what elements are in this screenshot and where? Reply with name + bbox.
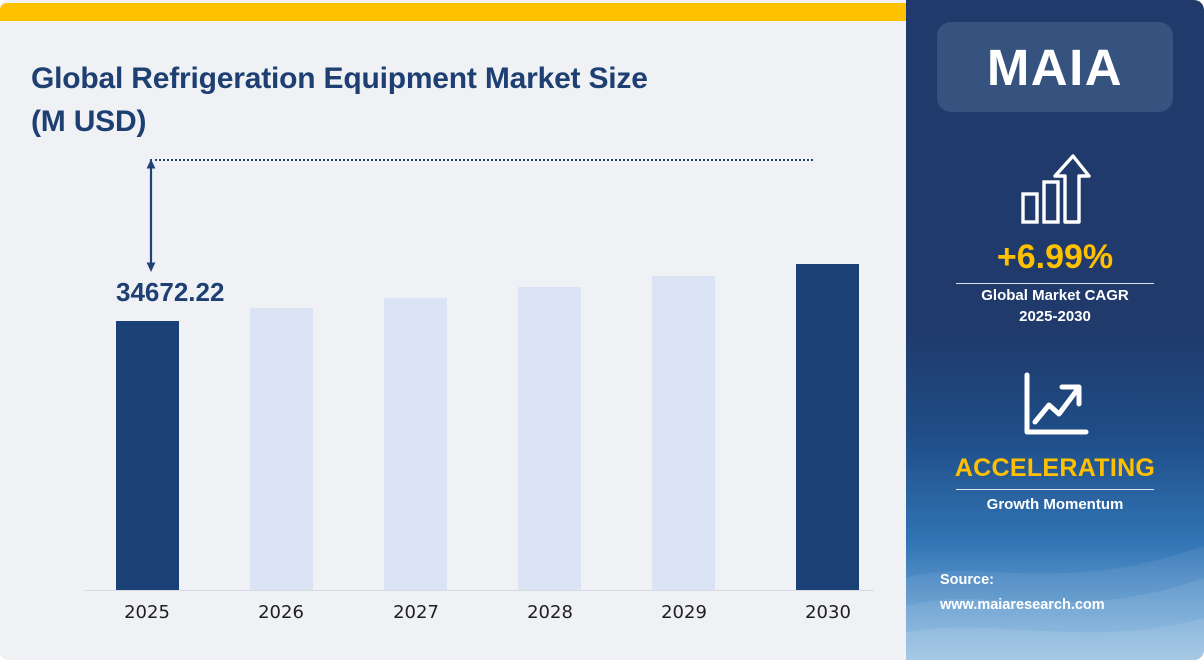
bar-2028 bbox=[518, 287, 581, 591]
x-tick-2026: 2026 bbox=[221, 602, 341, 623]
page-title: Global Refrigeration Equipment Market Si… bbox=[31, 58, 851, 143]
cagr-value: +6.99% bbox=[906, 238, 1204, 277]
chart-title-line-2: (M USD) bbox=[31, 105, 146, 138]
cagr-caption-line-1: Global Market CAGR bbox=[906, 287, 1204, 304]
source-label: Source: bbox=[940, 568, 1190, 593]
momentum-caption: Growth Momentum bbox=[906, 496, 1204, 513]
maia-logo-box: MAIA bbox=[937, 22, 1173, 112]
x-axis-line bbox=[84, 590, 874, 591]
momentum-value: ACCELERATING bbox=[906, 454, 1204, 483]
x-tick-2029: 2029 bbox=[624, 602, 744, 623]
bar-value-label-2025: 34672.22 bbox=[116, 277, 224, 308]
x-tick-2028: 2028 bbox=[490, 602, 610, 623]
infographic-root: Global Refrigeration Equipment Market Si… bbox=[0, 0, 1204, 660]
momentum-divider bbox=[956, 489, 1154, 490]
source-url[interactable]: www.maiaresearch.com bbox=[940, 593, 1190, 618]
cagr-divider bbox=[956, 283, 1154, 284]
bar-chart-up-arrow-icon bbox=[1019, 152, 1091, 226]
cagr-icon-container bbox=[906, 152, 1204, 226]
bar-2027 bbox=[384, 298, 447, 591]
source-block: Source: www.maiaresearch.com bbox=[940, 568, 1190, 619]
plot-area bbox=[84, 155, 874, 591]
x-tick-2025: 2025 bbox=[87, 602, 207, 623]
bar-2030 bbox=[796, 264, 859, 591]
bar-2026 bbox=[250, 308, 313, 591]
sidebar-panel: MAIA +6.99% Global Market CAGR 2025-2030… bbox=[906, 0, 1204, 660]
top-accent-bar bbox=[0, 3, 906, 21]
bar-2025 bbox=[116, 321, 179, 591]
x-tick-2030: 2030 bbox=[768, 602, 888, 623]
chart-panel: Global Refrigeration Equipment Market Si… bbox=[0, 0, 906, 660]
brand-logo-text: MAIA bbox=[987, 38, 1123, 97]
trend-line-chart-icon bbox=[1021, 372, 1089, 438]
x-tick-2027: 2027 bbox=[356, 602, 476, 623]
decorative-wave-graphic bbox=[906, 460, 1204, 660]
bar-2029 bbox=[652, 276, 715, 591]
momentum-icon-container bbox=[906, 372, 1204, 438]
cagr-caption-line-2: 2025-2030 bbox=[906, 308, 1204, 325]
chart-title-line-1: Global Refrigeration Equipment Market Si… bbox=[31, 62, 648, 95]
